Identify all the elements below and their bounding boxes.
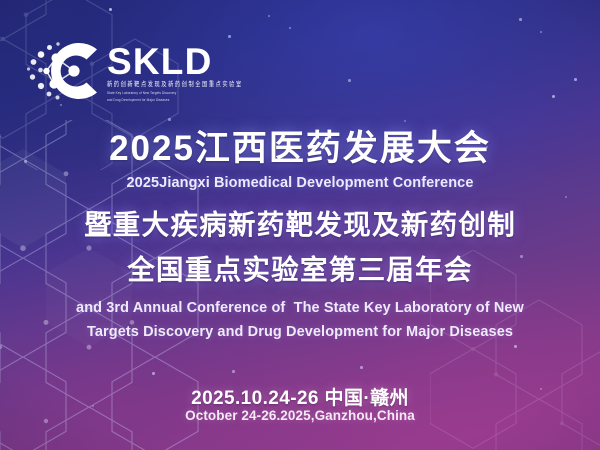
sub-title-chinese-line1: 暨重大疾病新药靶发现及新药创制 bbox=[0, 211, 600, 239]
main-title-chinese: 2025江西医药发展大会 bbox=[0, 131, 600, 166]
conference-poster: SKLD 新药创新靶点发现及新药创制全国重点实验室 State Key Labo… bbox=[0, 0, 600, 450]
date-location-chinese: 2025.10.24-26 中国·赣州 bbox=[0, 383, 600, 410]
poster-content: 2025江西医药发展大会 2025Jiangxi Biomedical Deve… bbox=[0, 0, 600, 450]
main-title-english: 2025Jiangxi Biomedical Development Confe… bbox=[0, 175, 600, 191]
sub-title-chinese-line2: 全国重点实验室第三届年会 bbox=[0, 256, 600, 284]
date-location-english: October 24-26.2025,Ganzhou,China bbox=[0, 408, 600, 423]
sub-title-english-line2: Targets Discovery and Drug Development f… bbox=[0, 324, 600, 340]
sub-title-english-line1: and 3rd Annual Conference of The State K… bbox=[0, 300, 600, 316]
